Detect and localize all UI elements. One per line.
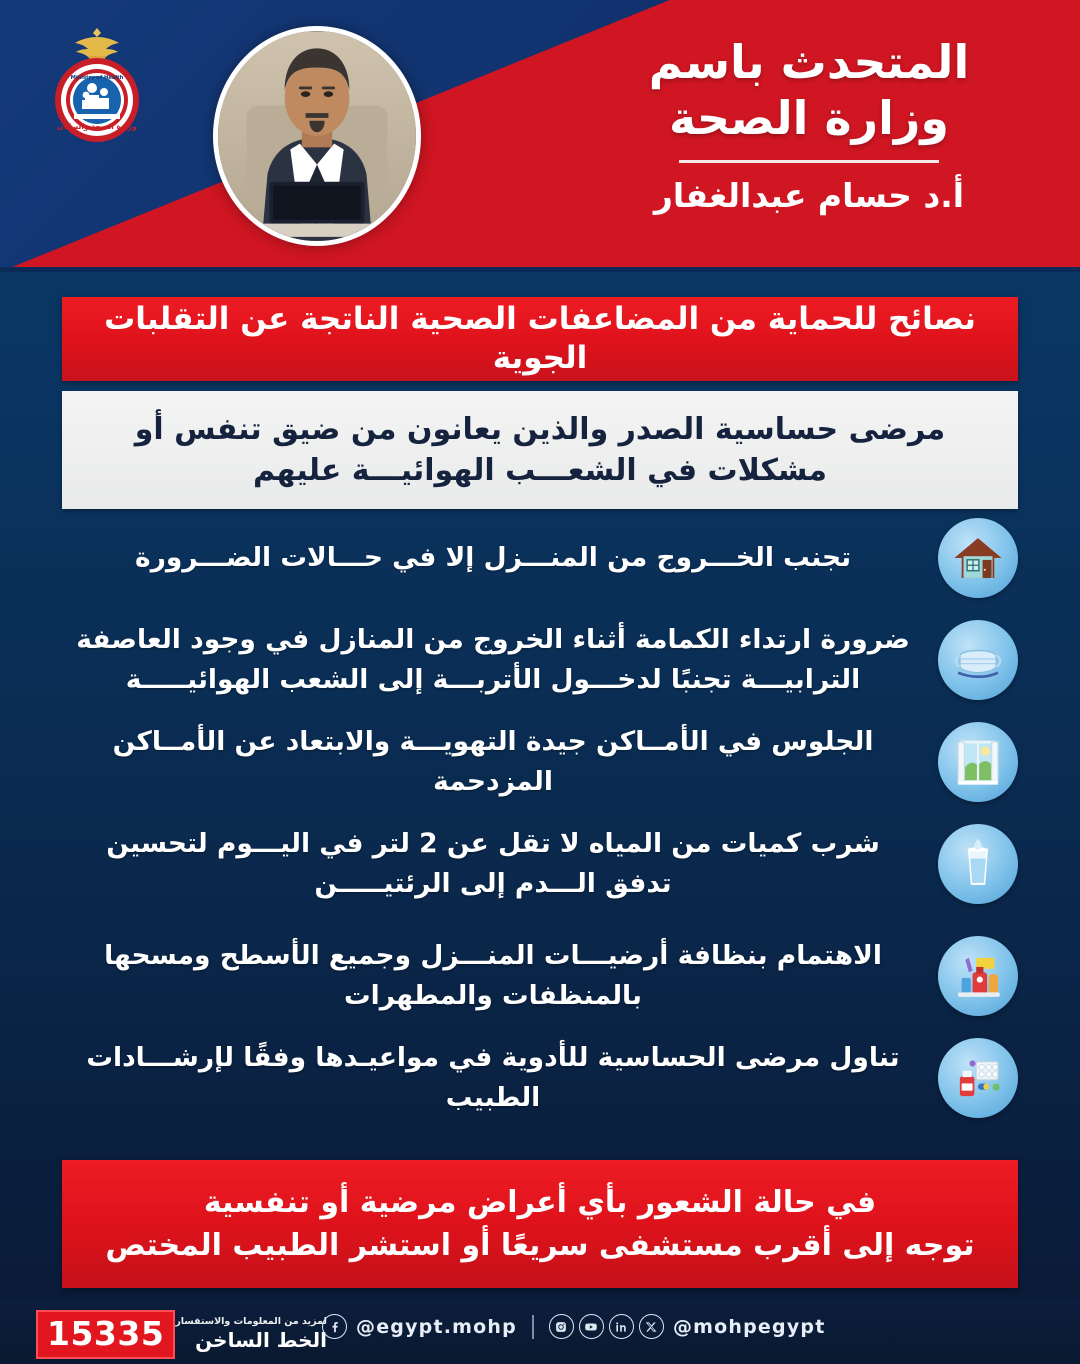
footer-bar: 15335 لمزيد من المعلومات والاستفسار الخط… <box>0 1298 1080 1364</box>
facebook-handle[interactable]: @egypt.mohp <box>356 1316 517 1338</box>
header-divider <box>679 160 939 163</box>
tips-list: تجنب الخـــروج من المنـــزل إلا في حـــا… <box>62 516 1018 1128</box>
tip-item-6: تناول مرضى الحساسية للأدوية في مواعيـدها… <box>62 1036 1018 1120</box>
header-title-line1: المتحدث باسم <box>594 34 1024 90</box>
spokesperson-portrait <box>213 26 421 246</box>
x-icon[interactable] <box>639 1314 664 1339</box>
main-title-text: نصائح للحماية من المضاعفات الصحية الناتج… <box>62 300 1018 378</box>
tip-item-2: ضرورة ارتداء الكمامة أثناء الخروج من الم… <box>62 608 1018 712</box>
tip-item-4: شرب كميات من المياه لا تقل عن 2 لتر في ا… <box>62 812 1018 916</box>
hotline-number[interactable]: 15335 <box>36 1310 175 1359</box>
warning-line-2: توجه إلى أقرب مستشفى سريعًا أو استشر الط… <box>79 1224 1000 1268</box>
main-title-banner: نصائح للحماية من المضاعفات الصحية الناتج… <box>62 297 1018 381</box>
instagram-icon[interactable] <box>549 1314 574 1339</box>
linkedin-icon[interactable] <box>609 1314 634 1339</box>
hotline-label: الخط الساخن <box>175 1329 327 1352</box>
header-title-line2: وزارة الصحة <box>594 90 1024 146</box>
open-window-icon <box>938 722 1018 802</box>
svg-text:وزارة الصحة والسكان: وزارة الصحة والسكان <box>57 122 137 131</box>
hotline-subtext: لمزيد من المعلومات والاستفسار <box>175 1317 327 1327</box>
tip-item-3: الجلوس في الأمــاكن جيدة التهويـــة والا… <box>62 720 1018 804</box>
tip-label: ضرورة ارتداء الكمامة أثناء الخروج من الم… <box>62 620 924 700</box>
header-bottom-rule <box>0 267 1080 272</box>
subtitle-text: مرضى حساسية الصدر والذين يعانون من ضيق ت… <box>62 409 1018 492</box>
social-separator <box>532 1315 534 1339</box>
cleaning-supplies-icon <box>938 936 1018 1016</box>
water-glass-icon <box>938 824 1018 904</box>
facebook-icon[interactable] <box>322 1314 347 1339</box>
face-mask-icon <box>938 620 1018 700</box>
tip-label: تناول مرضى الحساسية للأدوية في مواعيـدها… <box>62 1038 924 1118</box>
tip-item-1: تجنب الخـــروج من المنـــزل إلا في حـــا… <box>62 516 1018 600</box>
subtitle-banner: مرضى حساسية الصدر والذين يعانون من ضيق ت… <box>62 391 1018 509</box>
tip-label: تجنب الخـــروج من المنـــزل إلا في حـــا… <box>62 538 924 578</box>
tip-item-5: الاهتمام بنظافة أرضيـــات المنـــزل وجمي… <box>62 924 1018 1028</box>
tip-label: الجلوس في الأمــاكن جيدة التهويـــة والا… <box>62 722 924 802</box>
spokesperson-name: أ.د حسام عبدالغفار <box>594 175 1024 218</box>
house-icon <box>938 518 1018 598</box>
warning-line-1: في حالة الشعور بأي أعراض مرضية أو تنفسية <box>79 1181 1000 1225</box>
warning-banner: في حالة الشعور بأي أعراض مرضية أو تنفسية… <box>62 1160 1018 1288</box>
infographic-poster: Ministry of Health وزارة الصحة والسكان <box>0 0 1080 1364</box>
header-banner: Ministry of Health وزارة الصحة والسكان <box>0 0 1080 272</box>
ministry-logo: Ministry of Health وزارة الصحة والسكان <box>44 22 150 146</box>
social-links: @egypt.mohp @mohpegypt <box>322 1314 826 1339</box>
other-handle[interactable]: @mohpegypt <box>673 1316 826 1338</box>
youtube-icon[interactable] <box>579 1314 604 1339</box>
tip-label: شرب كميات من المياه لا تقل عن 2 لتر في ا… <box>62 824 924 904</box>
tip-label: الاهتمام بنظافة أرضيـــات المنـــزل وجمي… <box>62 936 924 1016</box>
medicines-icon <box>938 1038 1018 1118</box>
header-text-block: المتحدث باسم وزارة الصحة أ.د حسام عبدالغ… <box>594 34 1024 218</box>
svg-text:Ministry of Health: Ministry of Health <box>71 75 124 81</box>
hotline-block: 15335 لمزيد من المعلومات والاستفسار الخط… <box>36 1310 334 1359</box>
